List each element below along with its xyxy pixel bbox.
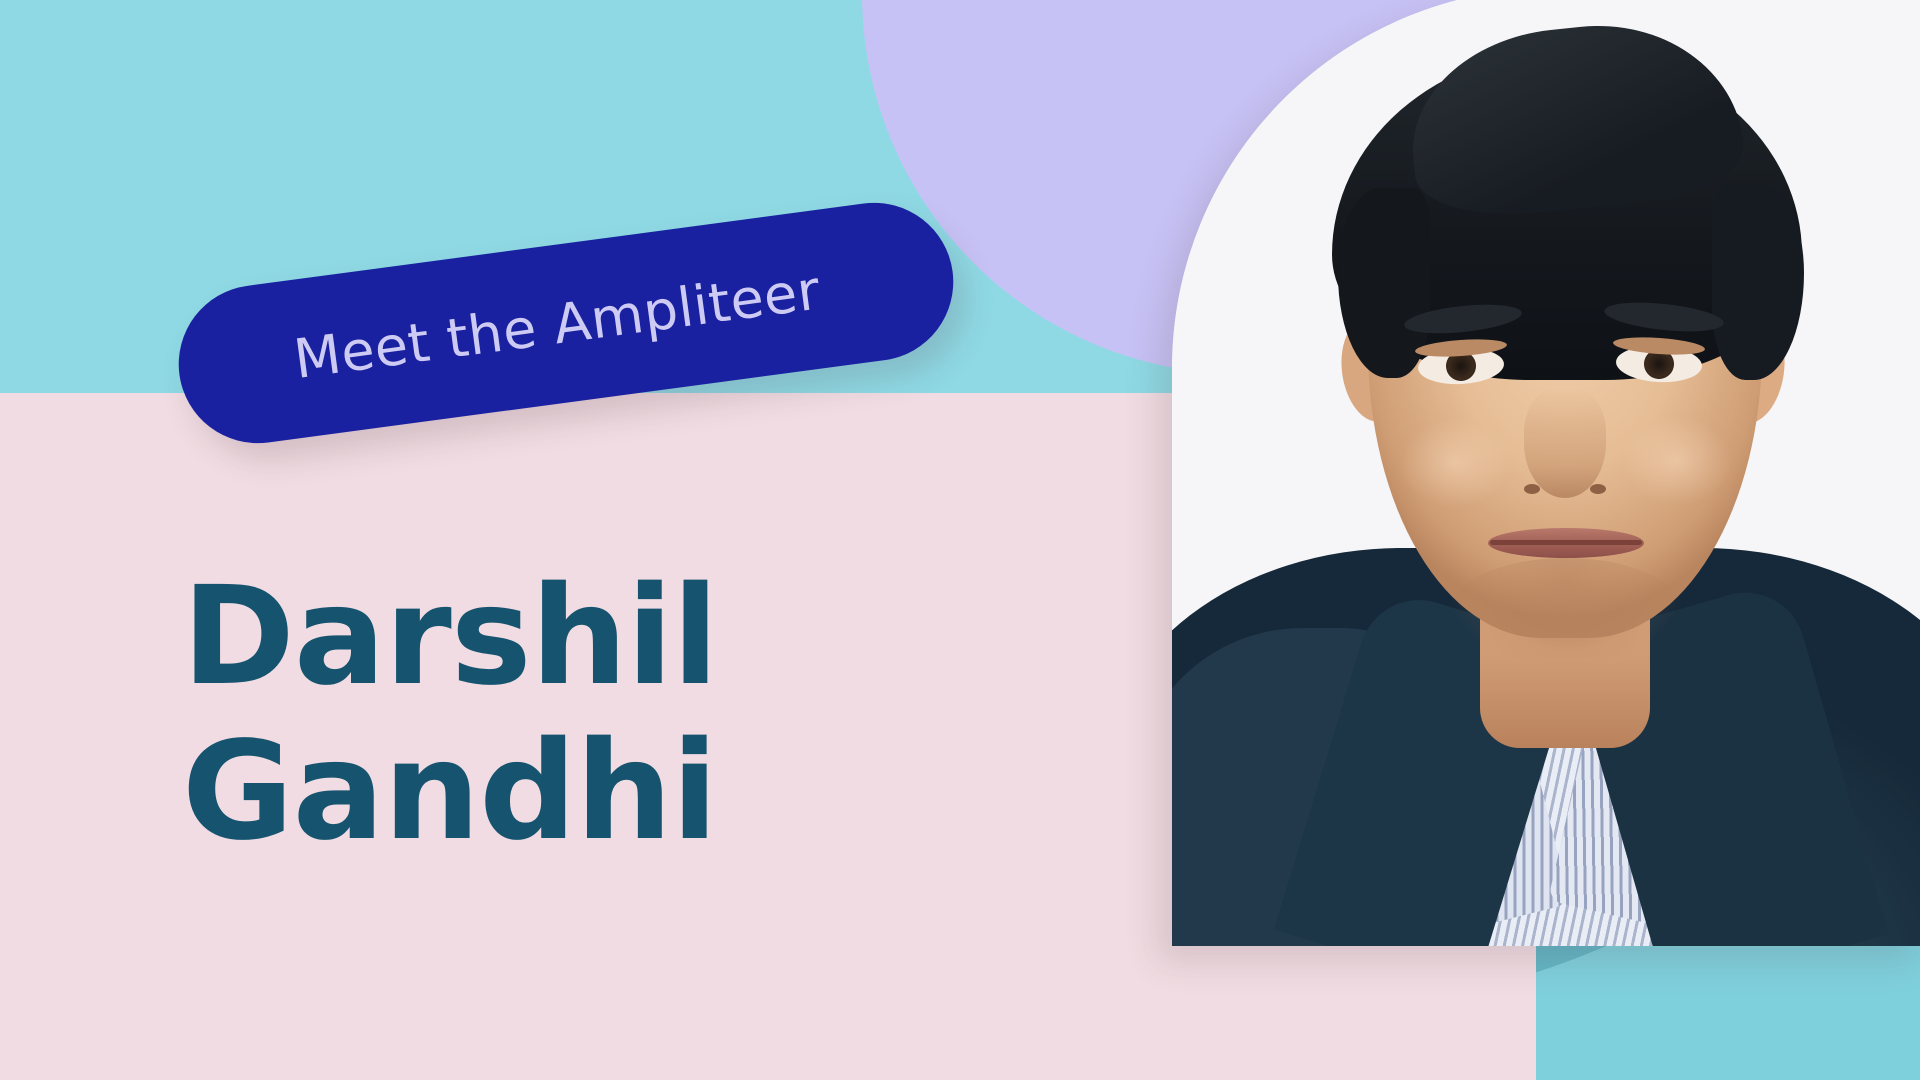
portrait-nostril-right — [1590, 484, 1606, 494]
social-card: Meet the Ampliteer Darshil Gandhi — [0, 0, 1920, 1080]
badge-label: Meet the Ampliteer — [290, 258, 823, 391]
decorative-block-teal — [1536, 944, 1920, 1080]
portrait-nostril-left — [1524, 484, 1540, 494]
decorative-wave-teal — [1536, 944, 1920, 1024]
portrait-photo — [1172, 0, 1920, 946]
portrait-frame — [1172, 0, 1920, 946]
portrait-cheek-left — [1400, 418, 1510, 508]
portrait-frame-clip — [1172, 0, 1920, 946]
portrait-lip-line — [1490, 540, 1642, 545]
person-name: Darshil Gandhi — [182, 560, 942, 870]
person-last-name: Gandhi — [182, 715, 942, 870]
person-first-name: Darshil — [182, 560, 942, 715]
portrait-nose — [1524, 388, 1606, 498]
portrait-chin-shading — [1448, 558, 1684, 668]
portrait-cheek-right — [1622, 416, 1732, 506]
